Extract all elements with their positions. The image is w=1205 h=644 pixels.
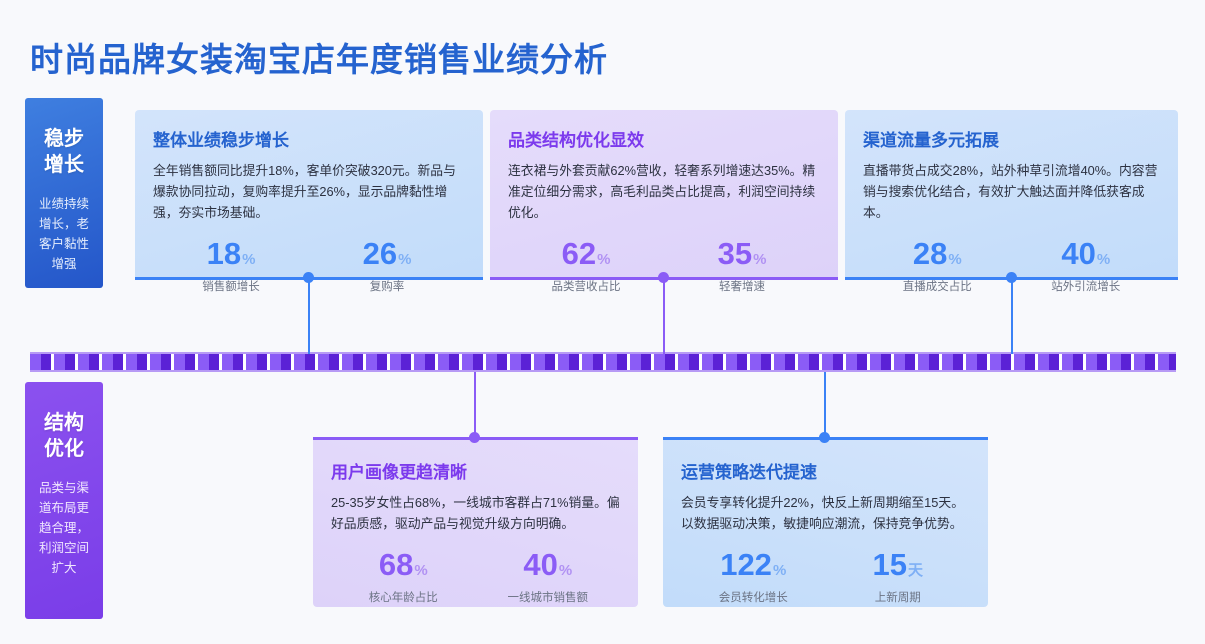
stat-label: 品类营收占比 <box>508 278 664 294</box>
phase-title-line2: 增长 <box>33 152 95 178</box>
phase-title-structure-optimization: 结构 优化 <box>33 410 95 462</box>
card-title: 用户画像更趋清晰 <box>331 458 620 483</box>
stat-item: 62% 品类营收占比 <box>508 237 664 294</box>
stat-unit: % <box>398 251 411 268</box>
card-body: 25-35岁女性占68%，一线城市客群占71%销量。偏好品质感，驱动产品与视觉升… <box>331 492 620 534</box>
stat-value: 28% <box>863 237 1012 277</box>
stat-unit: % <box>773 562 786 579</box>
stat-unit: % <box>948 251 961 268</box>
connector-line <box>663 277 665 354</box>
stat-item: 40% 站外引流增长 <box>1012 237 1161 294</box>
stat-value: 122% <box>681 548 826 588</box>
stat-value: 40% <box>1012 237 1161 277</box>
phase-bar-steady-growth: 稳步 增长 业绩持续增长，老客户黏性增强 <box>25 98 103 288</box>
stat-label: 核心年龄占比 <box>331 589 476 605</box>
timeline-strip <box>30 352 1176 372</box>
card-stats: 68% 核心年龄占比 40% 一线城市销售额 <box>331 548 620 605</box>
card-overall-performance[interactable]: 整体业绩稳步增长 全年销售额同比提升18%，客单价突破320元。新品与爆款协同拉… <box>135 110 483 280</box>
stat-unit: % <box>559 562 572 579</box>
stat-label: 站外引流增长 <box>1012 278 1161 294</box>
card-user-profile[interactable]: 用户画像更趋清晰 25-35岁女性占68%，一线城市客群占71%销量。偏好品质感… <box>313 437 638 607</box>
stat-item: 68% 核心年龄占比 <box>331 548 476 605</box>
stat-value: 35% <box>664 237 820 277</box>
stat-value: 18% <box>153 237 309 277</box>
stat-unit: % <box>597 251 610 268</box>
stat-item: 26% 复购率 <box>309 237 465 294</box>
stat-item: 40% 一线城市销售额 <box>476 548 621 605</box>
stat-item: 35% 轻奢增速 <box>664 237 820 294</box>
connector-line <box>1011 277 1013 354</box>
connector-line <box>474 372 476 438</box>
stat-item: 18% 销售额增长 <box>153 237 309 294</box>
card-category-structure[interactable]: 品类结构优化显效 连衣裙与外套贡献62%营收，轻奢系列增速达35%。精准定位细分… <box>490 110 838 280</box>
card-body: 连衣裙与外套贡献62%营收，轻奢系列增速达35%。精准定位细分需求，高毛利品类占… <box>508 160 820 223</box>
phase-title-line2: 优化 <box>33 436 95 462</box>
stat-unit: 天 <box>908 562 923 579</box>
stat-unit: % <box>1097 251 1110 268</box>
card-channel-traffic[interactable]: 渠道流量多元拓展 直播带货占成交28%，站外种草引流增40%。内容营销与搜索优化… <box>845 110 1178 280</box>
stat-item: 15天 上新周期 <box>826 548 971 605</box>
card-operation-strategy[interactable]: 运营策略迭代提速 会员专享转化提升22%，快反上新周期缩至15天。以数据驱动决策… <box>663 437 988 607</box>
stat-item: 28% 直播成交占比 <box>863 237 1012 294</box>
card-stats: 122% 会员转化增长 15天 上新周期 <box>681 548 970 605</box>
connector-line <box>308 277 310 354</box>
stat-label: 会员转化增长 <box>681 589 826 605</box>
stat-value: 62% <box>508 237 664 277</box>
stat-label: 上新周期 <box>826 589 971 605</box>
connector-dot <box>469 432 480 443</box>
stat-label: 轻奢增速 <box>664 278 820 294</box>
stat-label: 复购率 <box>309 278 465 294</box>
stat-value: 15天 <box>826 548 971 588</box>
card-title: 整体业绩稳步增长 <box>153 126 465 151</box>
phase-title-steady-growth: 稳步 增长 <box>33 126 95 178</box>
card-title: 运营策略迭代提速 <box>681 458 970 483</box>
stat-value: 40% <box>476 548 621 588</box>
card-title: 渠道流量多元拓展 <box>863 126 1160 151</box>
card-title: 品类结构优化显效 <box>508 126 820 151</box>
stat-label: 一线城市销售额 <box>476 589 621 605</box>
phase-desc-structure-optimization: 品类与渠道布局更趋合理，利润空间扩大 <box>33 478 95 578</box>
stat-label: 直播成交占比 <box>863 278 1012 294</box>
infographic-page: 时尚品牌女装淘宝店年度销售业绩分析 稳步 增长 业绩持续增长，老客户黏性增强 结… <box>0 0 1205 644</box>
stat-unit: % <box>414 562 427 579</box>
card-body: 全年销售额同比提升18%，客单价突破320元。新品与爆款协同拉动，复购率提升至2… <box>153 160 465 223</box>
stat-label: 销售额增长 <box>153 278 309 294</box>
phase-title-line1: 结构 <box>33 410 95 436</box>
stat-unit: % <box>753 251 766 268</box>
card-body: 会员专享转化提升22%，快反上新周期缩至15天。以数据驱动决策，敏捷响应潮流，保… <box>681 492 970 534</box>
phase-desc-steady-growth: 业绩持续增长，老客户黏性增强 <box>33 194 95 274</box>
stat-value: 26% <box>309 237 465 277</box>
card-body: 直播带货占成交28%，站外种草引流增40%。内容营销与搜索优化结合，有效扩大触达… <box>863 160 1160 223</box>
phase-bar-structure-optimization: 结构 优化 品类与渠道布局更趋合理，利润空间扩大 <box>25 382 103 619</box>
connector-line <box>824 372 826 438</box>
page-title: 时尚品牌女装淘宝店年度销售业绩分析 <box>30 33 608 81</box>
connector-dot <box>819 432 830 443</box>
stat-item: 122% 会员转化增长 <box>681 548 826 605</box>
phase-title-line1: 稳步 <box>33 126 95 152</box>
stat-unit: % <box>242 251 255 268</box>
stat-value: 68% <box>331 548 476 588</box>
